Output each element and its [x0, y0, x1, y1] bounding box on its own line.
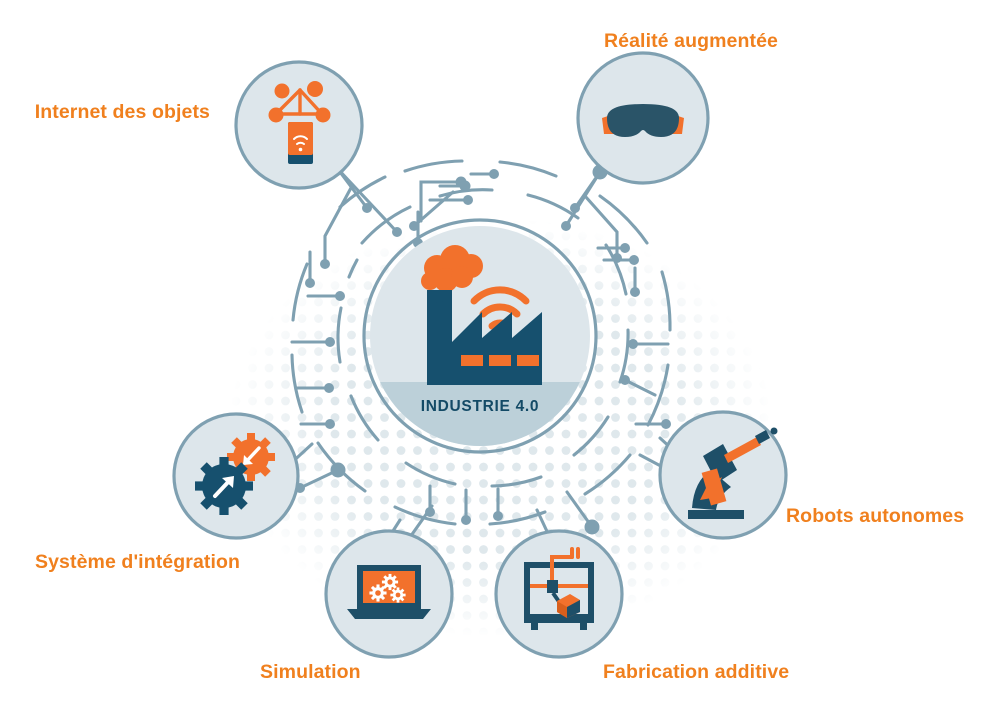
node-label-robots: Robots autonomes — [786, 505, 964, 527]
center-caption: INDUSTRIE 4.0 — [421, 398, 540, 415]
node-label-iot: Internet des objets — [35, 101, 210, 123]
node-label-simulation: Simulation — [260, 661, 361, 683]
node-label-additive: Fabrication additive — [603, 661, 789, 683]
industrie-40-diagram: INDUSTRIE 4.0 Inte — [0, 0, 995, 706]
node-iot[interactable]: Internet des objets — [35, 62, 362, 188]
node-ar[interactable]: Réalité augmentée — [578, 30, 778, 183]
node-circle-additive[interactable] — [496, 531, 622, 657]
node-label-ar: Réalité augmentée — [604, 30, 778, 52]
node-label-integration: Système d'intégration — [35, 551, 240, 573]
node-robots[interactable]: Robots autonomes — [660, 412, 964, 538]
laptop-gears-icon — [347, 565, 431, 619]
